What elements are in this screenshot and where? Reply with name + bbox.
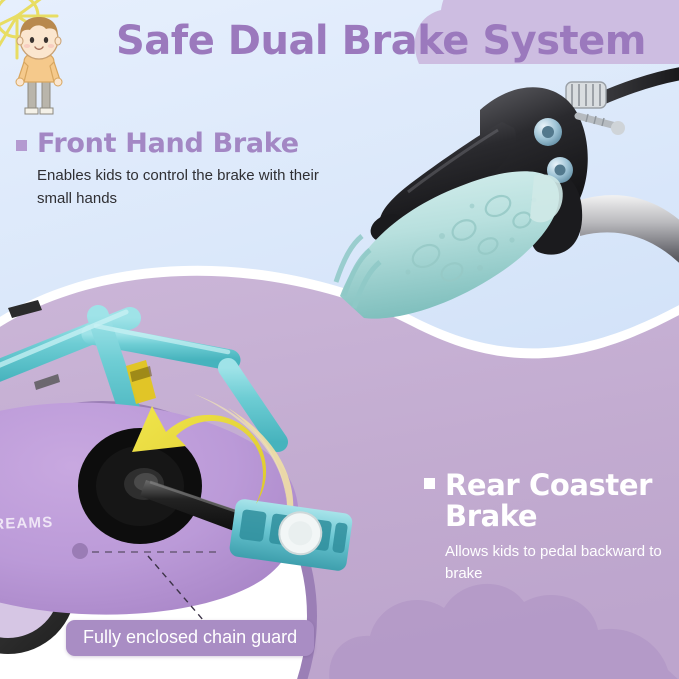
feature-title-rear: Rear Coaster Brake (445, 470, 674, 533)
bike-frame-text: R DREAMS (0, 514, 54, 534)
bullet-square-icon (16, 140, 27, 151)
feature-description-rear: Allows kids to pedal backward to brake (445, 541, 674, 586)
feature-description-front: Enables kids to control the brake with t… (37, 165, 337, 210)
cable-adjuster (566, 82, 606, 108)
front-brake-lever-photo (330, 60, 679, 320)
feature-rear-coaster-brake: Rear Coaster Brake Allows kids to pedal … (424, 470, 674, 586)
page-title: Safe Dual Brake System (116, 18, 646, 64)
infographic-canvas: R DREAMS (0, 0, 679, 679)
bullet-square-icon (424, 478, 435, 489)
side-bolt (578, 114, 625, 135)
feature-front-hand-brake: Front Hand Brake Enables kids to control… (16, 128, 346, 210)
feature-title-front: Front Hand Brake (37, 128, 299, 159)
cartoon-boy-illustration (6, 14, 72, 118)
handlebar-grip (336, 171, 563, 318)
chain-guard-callout-badge: Fully enclosed chain guard (66, 620, 314, 656)
